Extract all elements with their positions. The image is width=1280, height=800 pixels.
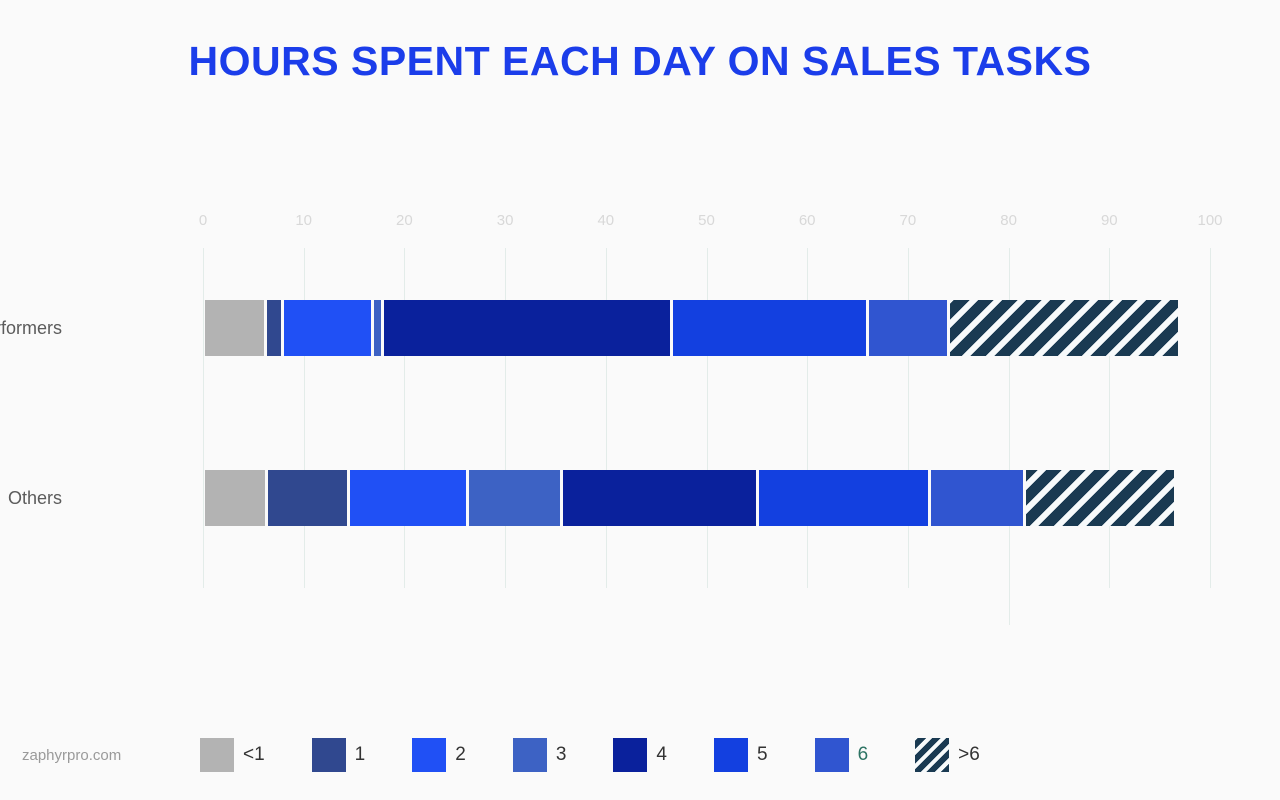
legend-label: 5: [757, 744, 768, 766]
legend-label: <1: [243, 744, 265, 766]
legend-label: 2: [455, 744, 466, 766]
bar-segment-6: [869, 300, 947, 356]
bar-segment-3: [469, 470, 560, 526]
x-tick-label: 0: [199, 212, 207, 229]
y-category-label-top-performers: Top performers: [0, 318, 62, 339]
legend-label: >6: [958, 744, 980, 766]
gridline-0: [203, 248, 204, 588]
x-tick-label: 80: [1000, 212, 1017, 229]
legend-item[interactable]: 3: [513, 738, 567, 772]
legend-swatch-icon: [815, 738, 849, 772]
legend-item[interactable]: 1: [312, 738, 366, 772]
legend-swatch-icon: [513, 738, 547, 772]
bar-segment-1: [268, 470, 347, 526]
bar-segment-gt6: [1026, 470, 1174, 526]
legend-item[interactable]: <1: [200, 738, 265, 772]
legend-swatch-icon: [714, 738, 748, 772]
x-tick-label: 90: [1101, 212, 1118, 229]
bar-segment-4: [384, 300, 670, 356]
legend-label: 4: [656, 744, 667, 766]
legend-item[interactable]: 6: [815, 738, 869, 772]
brand-watermark: zaphyrpro.com: [22, 747, 121, 764]
y-category-label-others: Others: [8, 488, 62, 509]
gridline-70: [908, 248, 909, 588]
x-tick-label: 20: [396, 212, 413, 229]
bar-segment-4: [563, 470, 756, 526]
bar-segment-3: [374, 300, 381, 356]
gridline-100: [1210, 248, 1211, 588]
bar-row-others: [203, 470, 1210, 526]
legend-swatch-icon: [312, 738, 346, 772]
legend-swatch-icon: [412, 738, 446, 772]
x-tick-label: 100: [1197, 212, 1222, 229]
chart-legend: <1123456>6: [200, 738, 1027, 772]
gridline-10: [304, 248, 305, 588]
x-tick-label: 70: [900, 212, 917, 229]
x-tick-label: 60: [799, 212, 816, 229]
bar-segment-6: [931, 470, 1024, 526]
x-tick-label: 50: [698, 212, 715, 229]
legend-swatch-icon: [200, 738, 234, 772]
gridline-40: [606, 248, 607, 588]
legend-item[interactable]: 5: [714, 738, 768, 772]
legend-label: 3: [556, 744, 567, 766]
page-title: HOURS SPENT EACH DAY ON SALES TASKS: [0, 38, 1280, 85]
bar-segment-lt1: [205, 470, 265, 526]
bar-segment-2: [350, 470, 467, 526]
legend-swatch-icon: [915, 738, 949, 772]
bar-row-top-performers: [203, 300, 1210, 356]
legend-item[interactable]: 4: [613, 738, 667, 772]
gridline-60: [807, 248, 808, 588]
gridline-90: [1109, 248, 1110, 588]
bar-segment-2: [284, 300, 371, 356]
gridline-30: [505, 248, 506, 588]
gridline-50: [707, 248, 708, 588]
bar-segment-lt1: [205, 300, 264, 356]
legend-label: 1: [355, 744, 366, 766]
legend-item[interactable]: >6: [915, 738, 980, 772]
legend-swatch-icon: [613, 738, 647, 772]
bar-segment-5: [673, 300, 866, 356]
legend-label: 6: [858, 744, 869, 766]
x-tick-label: 30: [497, 212, 514, 229]
x-tick-label: 40: [597, 212, 614, 229]
bar-segment-5: [759, 470, 927, 526]
gridline-20: [404, 248, 405, 588]
legend-item[interactable]: 2: [412, 738, 466, 772]
bar-segment-gt6: [950, 300, 1179, 356]
chart-plot-area: 0102030405060708090100: [203, 248, 1210, 588]
bar-segment-1: [267, 300, 281, 356]
x-tick-label: 10: [295, 212, 312, 229]
